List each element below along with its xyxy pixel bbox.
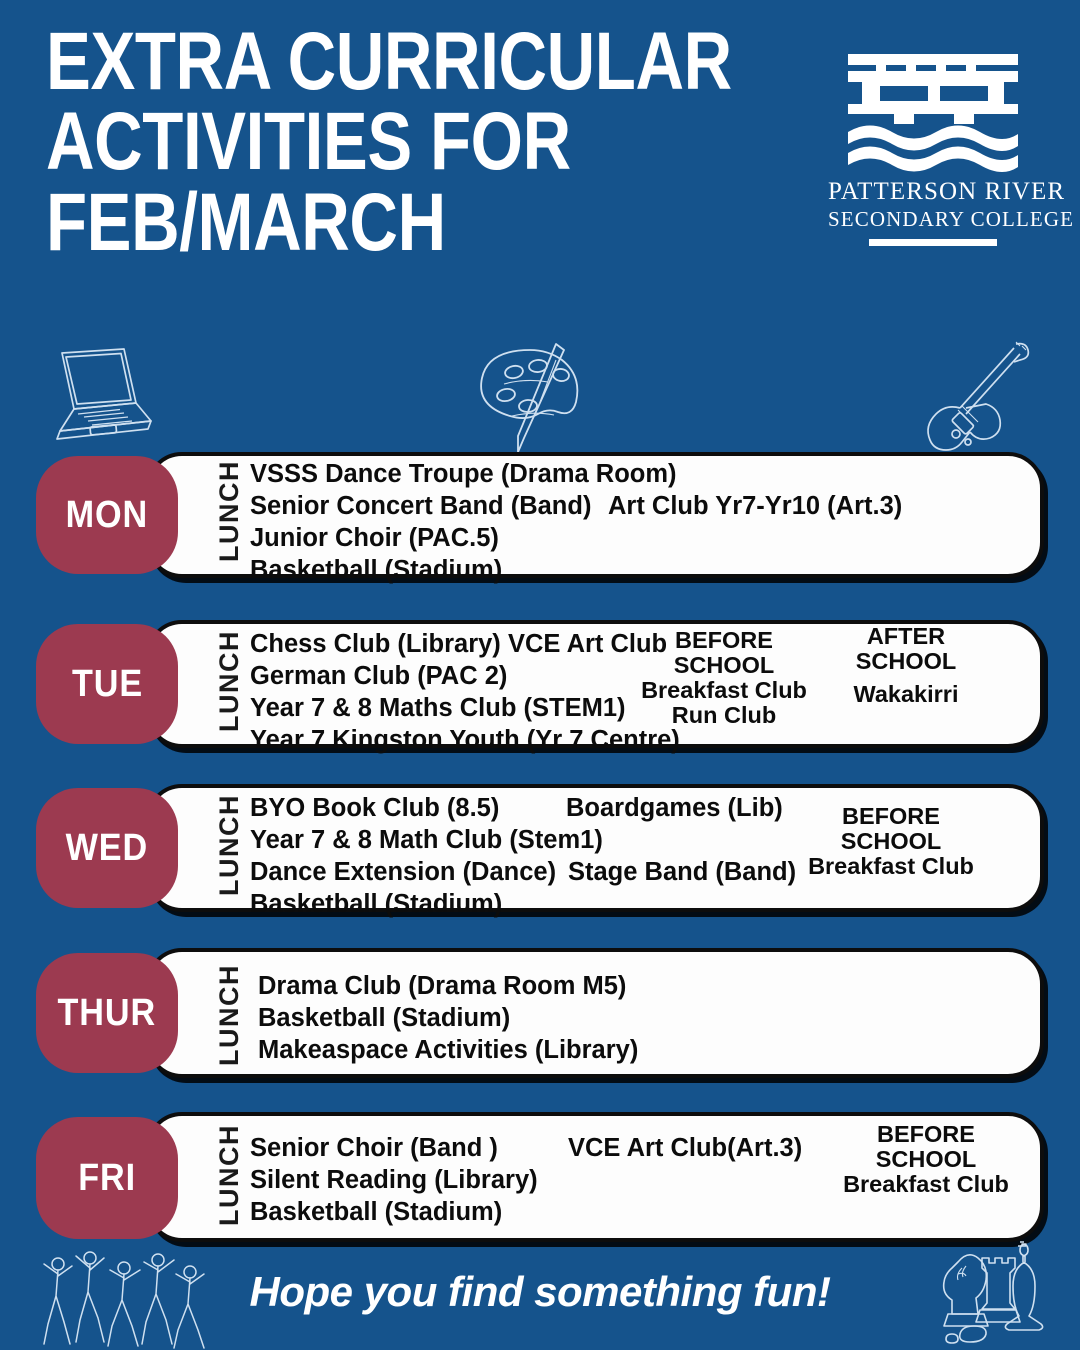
- lunch-items-wed: BYO Book Club (8.5) Year 7 & 8 Math Club…: [250, 792, 603, 920]
- activity-item: Basketball (Stadium): [258, 1002, 638, 1034]
- activity-item: Silent Reading (Library): [250, 1164, 538, 1196]
- lunch-items-thur: Drama Club (Drama Room M5) Basketball (S…: [258, 970, 638, 1066]
- activity-item: Basketball (Stadium): [250, 1196, 538, 1228]
- session-heading: BEFORE SCHOOL: [826, 1122, 1026, 1172]
- activity-item: Art Club Yr7-Yr10 (Art.3): [608, 490, 902, 522]
- lunch-label-tue: LUNCH: [214, 640, 245, 732]
- activity-item: Breakfast Club: [636, 678, 812, 703]
- lunch-extra-mon: Art Club Yr7-Yr10 (Art.3): [608, 490, 902, 522]
- activity-item: Wakakirri: [818, 682, 994, 707]
- day-label-tue: TUE: [71, 663, 142, 706]
- activity-item: Run Club: [636, 703, 812, 728]
- schedule: MON LUNCH VSSS Dance Troupe (Drama Room)…: [0, 0, 1080, 1350]
- activity-item: Year 7 & 8 Maths Club (STEM1): [250, 692, 680, 724]
- activity-item: VSSS Dance Troupe (Drama Room): [250, 458, 677, 490]
- activity-item: Year 7 Kingston Youth (Yr 7 Centre): [250, 724, 680, 756]
- lunch-label-thur: LUNCH: [214, 974, 245, 1066]
- day-label-mon: MON: [66, 494, 148, 537]
- activity-item: Boardgames (Lib): [566, 792, 783, 824]
- lunch-extra-wed-1: Boardgames (Lib): [566, 792, 783, 824]
- day-badge-tue[interactable]: TUE: [36, 624, 178, 744]
- footer-message: Hope you find something fun!: [0, 1268, 1080, 1316]
- session-heading: AFTER SCHOOL: [818, 624, 994, 674]
- poster-root: EXTRA CURRICULAR ACTIVITIES FOR FEB/MARC…: [0, 0, 1080, 1350]
- activity-item: Year 7 & 8 Math Club (Stem1): [250, 824, 603, 856]
- before-school-wed: BEFORE SCHOOL Breakfast Club: [788, 804, 994, 879]
- activity-item: BYO Book Club (8.5): [250, 792, 603, 824]
- lunch-items-fri: Senior Choir (Band ) Silent Reading (Lib…: [250, 1132, 538, 1228]
- activity-item: Dance Extension (Dance): [250, 856, 603, 888]
- after-school-tue: AFTER SCHOOL Wakakirri: [818, 624, 994, 707]
- activity-item: Stage Band (Band): [568, 856, 796, 888]
- activity-item: Basketball (Stadium): [250, 554, 677, 586]
- activity-item: Senior Choir (Band ): [250, 1132, 538, 1164]
- activity-item: Breakfast Club: [826, 1172, 1026, 1197]
- lunch-extra-fri: VCE Art Club(Art.3): [568, 1132, 802, 1164]
- lunch-extra-wed-2: Stage Band (Band): [568, 856, 796, 888]
- day-label-thur: THUR: [58, 992, 157, 1035]
- lunch-label-fri: LUNCH: [214, 1134, 245, 1226]
- lunch-label-wed: LUNCH: [214, 804, 245, 896]
- day-badge-mon[interactable]: MON: [36, 456, 178, 574]
- activity-item: Makeaspace Activities (Library): [258, 1034, 638, 1066]
- activity-item: Basketball (Stadium): [250, 888, 603, 920]
- day-label-fri: FRI: [78, 1157, 136, 1200]
- day-label-wed: WED: [66, 827, 148, 870]
- day-badge-fri[interactable]: FRI: [36, 1117, 178, 1239]
- activity-item: Junior Choir (PAC.5): [250, 522, 677, 554]
- session-heading: BEFORE SCHOOL: [788, 804, 994, 854]
- before-school-tue: BEFORE SCHOOL Breakfast Club Run Club: [636, 628, 812, 728]
- day-badge-wed[interactable]: WED: [36, 788, 178, 908]
- activity-item: German Club (PAC 2): [250, 660, 680, 692]
- activity-item: Drama Club (Drama Room M5): [258, 970, 638, 1002]
- day-badge-thur[interactable]: THUR: [36, 953, 178, 1073]
- session-heading: BEFORE SCHOOL: [636, 628, 812, 678]
- lunch-items-mon: VSSS Dance Troupe (Drama Room) Senior Co…: [250, 458, 677, 586]
- before-school-fri: BEFORE SCHOOL Breakfast Club: [826, 1122, 1026, 1197]
- activity-item: VCE Art Club(Art.3): [568, 1132, 802, 1164]
- lunch-label-mon: LUNCH: [214, 470, 245, 562]
- activity-item: Breakfast Club: [788, 854, 994, 879]
